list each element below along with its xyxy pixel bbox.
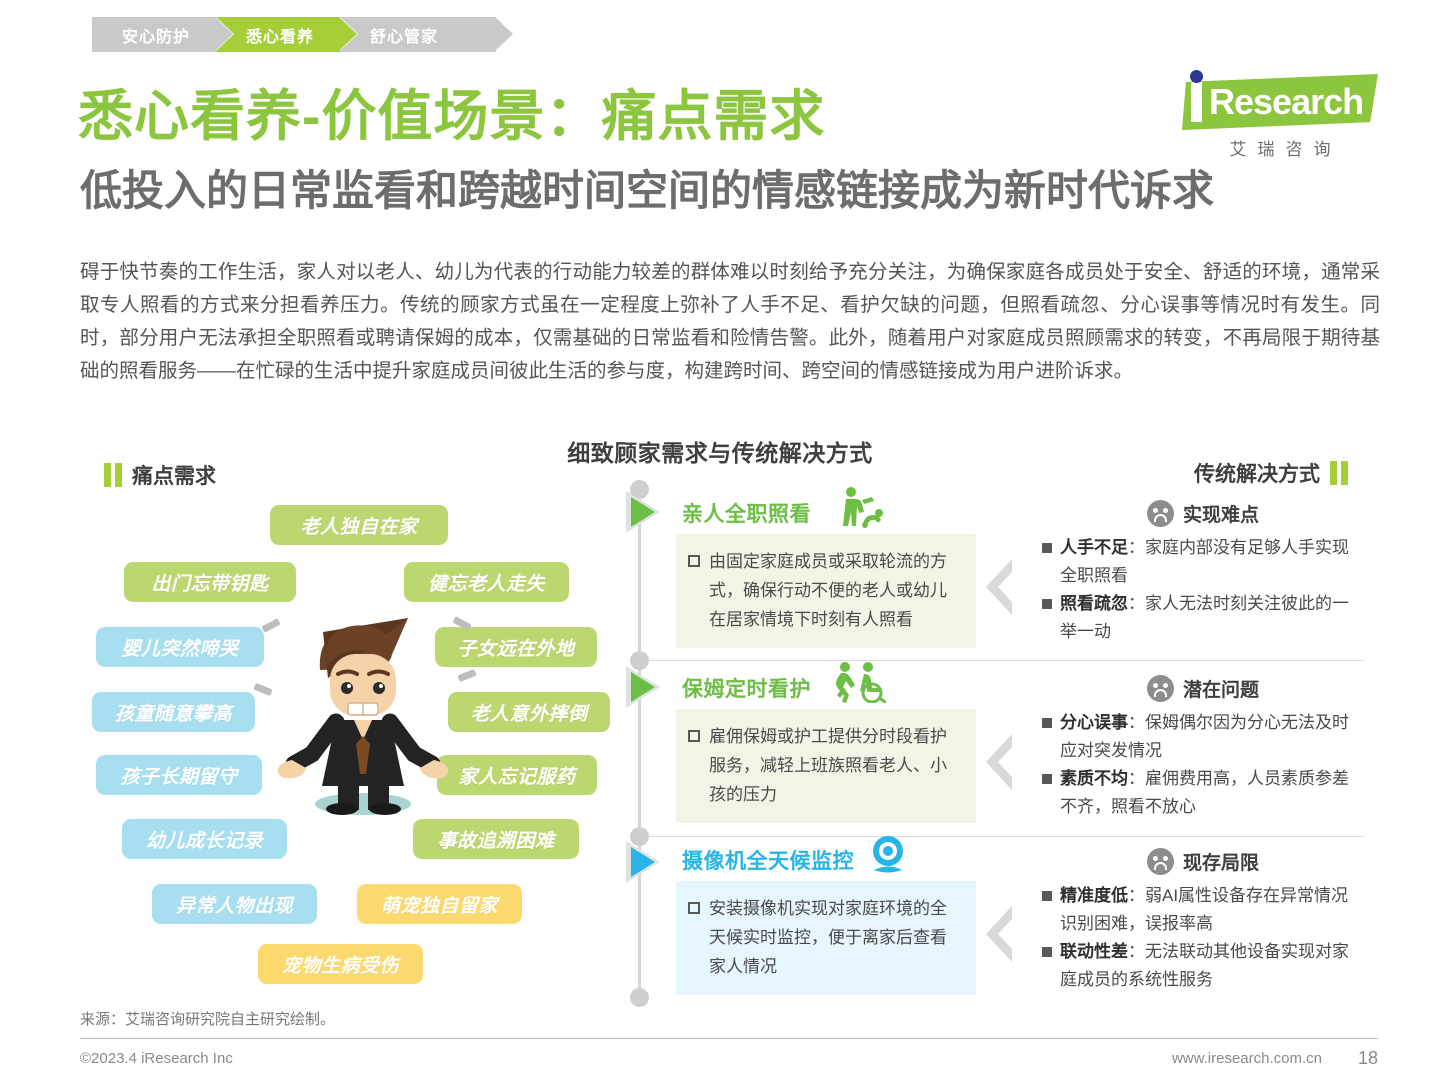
square-bullet-icon — [1042, 543, 1052, 553]
solution-title-label: 实现难点 — [1183, 500, 1259, 527]
bubble-label: 出门忘带钥匙 — [151, 569, 268, 596]
bubble-label: 宠物生病受伤 — [282, 951, 399, 978]
frustrated-businessman-illustration — [268, 608, 458, 818]
pain-point-bubble[interactable]: 宠物生病受伤 — [258, 944, 423, 984]
connector-chevron-notch-1 — [998, 559, 1024, 615]
pain-point-bubble[interactable]: 老人独自在家 — [270, 505, 448, 545]
pain-point-bubble[interactable]: 幼儿成长记录 — [122, 819, 287, 859]
page-number: 18 — [1358, 1048, 1378, 1069]
timeline-dot-bottom — [630, 988, 649, 1007]
copyright: ©2023.4 iResearch Inc — [80, 1050, 233, 1067]
pain-point-bubble[interactable]: 异常人物出现 — [152, 884, 317, 924]
pain-point-bubble[interactable]: 孩子长期留守 — [96, 755, 262, 795]
timeline-separator-2 — [648, 836, 1364, 837]
right-panel-heading: 传统解决方式 — [1194, 458, 1348, 488]
card-title-1: 亲人全职照看 — [682, 498, 811, 528]
card-title-2: 保姆定时看护 — [682, 673, 811, 703]
pain-point-bubble[interactable]: 子女远在外地 — [435, 627, 597, 667]
pain-point-bubble[interactable]: 出门忘带钥匙 — [124, 562, 296, 602]
bubble-label: 孩子长期留守 — [120, 762, 237, 789]
wheelchair-assist-icon — [832, 661, 886, 703]
solution-item: 人手不足：家庭内部没有足够人手实现全职照看 — [1042, 534, 1364, 590]
page-subtitle: 低投入的日常监看和跨越时间空间的情感链接成为新时代诉求 — [80, 168, 1214, 214]
website-url[interactable]: www.iresearch.com.cn — [1172, 1050, 1322, 1067]
pain-point-bubble[interactable]: 老人意外摔倒 — [448, 692, 610, 732]
solution-item: 分心误事：保姆偶尔因为分心无法及时应对突发情况 — [1042, 709, 1364, 765]
square-bullet-icon — [1042, 718, 1052, 728]
connector-chevron-notch-2 — [998, 734, 1024, 790]
solution-term: 联动性差 — [1060, 942, 1128, 961]
solution-item: 联动性差：无法联动其他设备实现对家庭成员的系统性服务 — [1042, 938, 1364, 994]
bubble-label: 健忘老人走失 — [428, 569, 545, 596]
caregiver-child-icon — [832, 486, 886, 528]
right-panel-heading-label: 传统解决方式 — [1194, 458, 1320, 488]
bubble-label: 子女远在外地 — [457, 634, 574, 661]
left-panel-heading-label: 痛点需求 — [132, 460, 216, 490]
sad-face-icon — [1147, 500, 1174, 527]
logo-wordmark: Research — [1209, 78, 1363, 126]
square-bullet-icon — [688, 730, 700, 742]
sad-face-icon — [1147, 848, 1174, 875]
bubble-label: 萌宠独自留家 — [381, 891, 498, 918]
pain-point-bubble[interactable]: 婴儿突然啼哭 — [96, 627, 264, 667]
solution-block-2: 潜在问题 分心误事：保姆偶尔因为分心无法及时应对突发情况 素质不均：雇佣费用高，… — [1042, 675, 1364, 821]
card-text-3: 安装摄像机实现对家庭环境的全天候实时监控，便于离家后查看家人情况 — [709, 894, 962, 981]
solution-term: 分心误事 — [1060, 713, 1128, 732]
card-body-2: 雇佣保姆或护工提供分时段看护服务，减轻上班族照看老人、小孩的压力 — [676, 709, 976, 823]
breadcrumb-item-3[interactable]: 舒心管家 — [340, 17, 496, 52]
solution-item: 照看疏忽：家人无法时刻关注彼此的一举一动 — [1042, 590, 1364, 646]
page-title: 悉心看养-价值场景：痛点需求 — [78, 86, 825, 147]
body-paragraph: 碍于快节奏的工作生活，家人对以老人、幼儿为代表的行动能力较差的群体难以时刻给予充… — [80, 256, 1380, 388]
bubble-label: 老人独自在家 — [300, 512, 417, 539]
pain-point-bubble[interactable]: 事故追溯困难 — [413, 819, 579, 859]
source-note: 来源：艾瑞咨询研究院自主研究绘制。 — [80, 1008, 335, 1029]
heading-bars-icon — [1330, 461, 1348, 485]
iresearch-logo: Research 艾瑞咨询 — [1182, 74, 1378, 160]
bubble-label: 异常人物出现 — [176, 891, 293, 918]
solution-item: 素质不均：雇佣费用高，人员素质参差不齐，照看不放心 — [1042, 765, 1364, 821]
logo-letter-i — [1191, 82, 1202, 122]
square-bullet-icon — [1042, 774, 1052, 784]
left-panel-heading: 痛点需求 — [104, 460, 216, 490]
solution-title-label: 现存局限 — [1183, 848, 1259, 875]
bubble-label: 幼儿成长记录 — [146, 826, 263, 853]
camera-icon — [866, 834, 910, 876]
card-title-3: 摄像机全天候监控 — [682, 845, 854, 875]
bubble-label: 老人意外摔倒 — [470, 699, 587, 726]
bubble-label: 事故追溯困难 — [437, 826, 554, 853]
timeline-arrow-1 — [631, 497, 655, 527]
card-text-2: 雇佣保姆或护工提供分时段看护服务，减轻上班族照看老人、小孩的压力 — [709, 722, 962, 809]
pain-point-bubble[interactable]: 健忘老人走失 — [404, 562, 569, 602]
timeline-line — [638, 486, 641, 1002]
square-bullet-icon — [688, 555, 700, 567]
solution-block-3: 现存局限 精准度低：弱AI属性设备存在异常情况识别困难，误报率高 联动性差：无法… — [1042, 848, 1364, 994]
timeline-arrow-3 — [631, 847, 655, 877]
card-text-1: 由固定家庭成员或采取轮流的方式，确保行动不便的老人或幼儿在居家情境下时刻有人照看 — [709, 547, 962, 634]
timeline-arrow-2 — [631, 672, 655, 702]
solution-term: 素质不均 — [1060, 769, 1128, 788]
connector-chevron-notch-3 — [998, 906, 1024, 962]
breadcrumb: 安心防护 悉心看养 舒心管家 — [92, 17, 496, 52]
solution-term: 人手不足 — [1060, 538, 1128, 557]
card-body-3: 安装摄像机实现对家庭环境的全天候实时监控，便于离家后查看家人情况 — [676, 881, 976, 995]
bubble-label: 婴儿突然啼哭 — [121, 634, 238, 661]
pain-point-bubble[interactable]: 孩童随意攀高 — [92, 692, 255, 732]
pain-point-bubble[interactable]: 萌宠独自留家 — [357, 884, 522, 924]
card-body-1: 由固定家庭成员或采取轮流的方式，确保行动不便的老人或幼儿在居家情境下时刻有人照看 — [676, 534, 976, 648]
businessman-svg — [268, 608, 458, 818]
solution-block-title-2: 潜在问题 — [1042, 675, 1364, 702]
breadcrumb-label-1: 安心防护 — [122, 23, 190, 47]
sad-face-icon — [1147, 675, 1174, 702]
breadcrumb-item-1[interactable]: 安心防护 — [92, 17, 216, 52]
solution-block-title-3: 现存局限 — [1042, 848, 1364, 875]
footer-divider — [80, 1038, 1378, 1039]
breadcrumb-label-3: 舒心管家 — [370, 23, 438, 47]
logo-mark: Research — [1182, 74, 1378, 130]
solution-block-title-1: 实现难点 — [1042, 500, 1364, 527]
breadcrumb-label-2: 悉心看养 — [246, 23, 314, 47]
square-bullet-icon — [688, 902, 700, 914]
logo-chinese-name: 艾瑞咨询 — [1182, 135, 1378, 160]
bubble-label: 孩童随意攀高 — [115, 699, 232, 726]
solution-block-1: 实现难点 人手不足：家庭内部没有足够人手实现全职照看 照看疏忽：家人无法时刻关注… — [1042, 500, 1364, 646]
solution-term: 照看疏忽 — [1060, 594, 1128, 613]
square-bullet-icon — [1042, 599, 1052, 609]
square-bullet-icon — [1042, 947, 1052, 957]
solution-title-label: 潜在问题 — [1183, 675, 1259, 702]
square-bullet-icon — [1042, 891, 1052, 901]
bubble-label: 家人忘记服药 — [458, 762, 575, 789]
pain-point-bubble[interactable]: 家人忘记服药 — [437, 755, 597, 795]
heading-bars-icon — [104, 463, 122, 487]
solution-term: 精准度低 — [1060, 886, 1128, 905]
timeline-separator-1 — [648, 660, 1364, 661]
logo-dot-icon — [1190, 70, 1203, 83]
breadcrumb-item-2[interactable]: 悉心看养 — [216, 17, 340, 52]
solution-item: 精准度低：弱AI属性设备存在异常情况识别困难，误报率高 — [1042, 882, 1364, 938]
